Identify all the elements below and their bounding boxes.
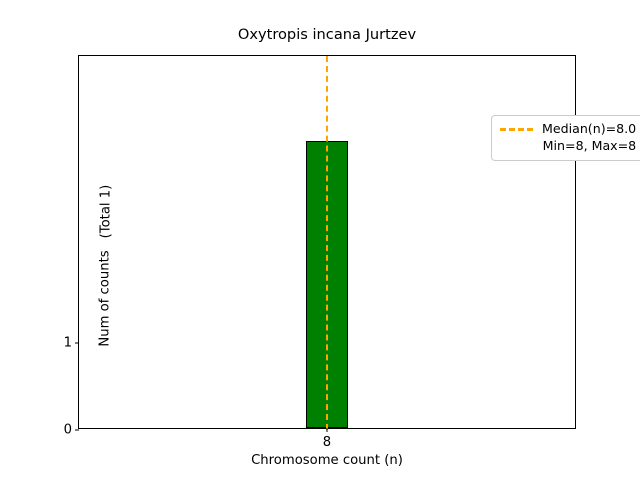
legend: Median(n)=8.0 Min=8, Max=8 [491, 115, 640, 161]
median-reference-line [326, 56, 328, 430]
dashed-line-swatch-icon [500, 128, 533, 131]
y-axis-label-total: (Total 1) [99, 148, 114, 276]
x-axis-label: Chromosome count (n) [78, 453, 576, 468]
x-tick-label-8: 8 [323, 428, 331, 450]
y-tick-label-0: 0 [64, 423, 79, 438]
y-tick-label-1: 1 [64, 336, 79, 351]
legend-label-minmax: Min=8, Max=8 [543, 138, 637, 155]
legend-label-median: Median(n)=8.0 [542, 121, 636, 138]
page-title: Oxytropis incana Jurtzev [78, 26, 576, 43]
legend-item-median: Median(n)=8.0 [500, 121, 636, 138]
legend-item-minmax: Min=8, Max=8 [500, 138, 636, 155]
matplotlib-figure: Oxytropis incana Jurtzev 1 0 8 Num of co… [0, 0, 640, 480]
plot-area: 1 0 8 Num of counts (Total 1) Median(n)=… [78, 55, 576, 429]
